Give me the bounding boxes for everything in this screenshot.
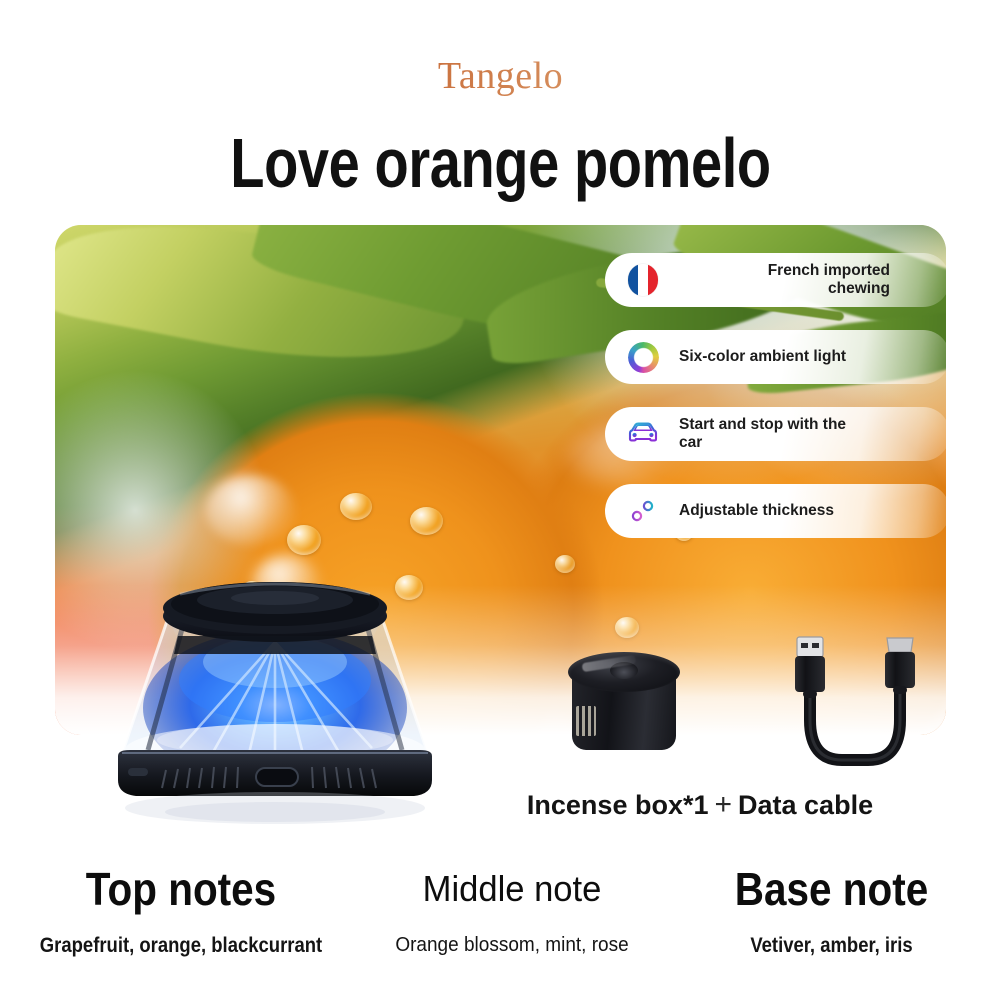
feature-pill-label: Adjustable thickness — [665, 502, 946, 520]
brand-name: Tangelo — [0, 54, 1001, 98]
feature-pill-french-imported[interactable]: French imported chewing — [605, 253, 946, 307]
feature-pill-start-stop-car[interactable]: Start and stop with the car — [605, 407, 946, 461]
water-droplet — [555, 555, 575, 573]
diffuser-device — [60, 512, 490, 842]
plus-sign: + — [708, 788, 738, 821]
incense-box-label: Incense box*1 — [527, 790, 709, 820]
note-description: Grapefruit, orange, blackcurrant — [22, 934, 341, 958]
feature-label-line1: Start and stop with the — [679, 416, 846, 433]
note-description: Vetiver, amber, iris — [682, 934, 980, 958]
french-flag-icon — [621, 263, 665, 297]
feature-label-line2: car — [679, 434, 702, 451]
accessory-caption: Incense box*1+Data cable — [430, 788, 970, 822]
fragrance-notes-section: Top notes Grapefruit, orange, blackcurra… — [0, 862, 1001, 958]
feature-pill-label: Start and stop with the car — [665, 416, 946, 452]
note-title: Base note — [682, 862, 980, 916]
page-title: Love orange pomelo — [100, 124, 901, 202]
data-cable-label: Data cable — [738, 790, 873, 820]
car-icon — [621, 417, 665, 451]
incense-box-product — [566, 648, 684, 766]
feature-label-line2: chewing — [828, 280, 890, 297]
fragrance-note-column: Top notes Grapefruit, orange, blackcurra… — [0, 862, 362, 958]
feature-pill-label: Six-color ambient light — [665, 348, 946, 366]
feature-pill-adjustable-thickness[interactable]: Adjustable thickness — [605, 484, 946, 538]
note-title: Middle note — [368, 862, 656, 916]
feature-pill-list: French imported chewing Six-color ambien… — [605, 253, 946, 538]
feature-label-line1: French imported — [768, 262, 890, 279]
data-cable-product — [780, 628, 930, 773]
fragrance-note-column: Middle note Orange blossom, mint, rose — [362, 862, 662, 958]
note-title: Top notes — [22, 862, 341, 916]
rainbow-ring-icon — [621, 340, 665, 374]
feature-pill-ambient-light[interactable]: Six-color ambient light — [605, 330, 946, 384]
sliders-icon — [621, 494, 665, 528]
fragrance-note-column: Base note Vetiver, amber, iris — [662, 862, 1001, 958]
feature-pill-label: French imported chewing — [665, 262, 946, 298]
note-description: Orange blossom, mint, rose — [370, 934, 655, 957]
